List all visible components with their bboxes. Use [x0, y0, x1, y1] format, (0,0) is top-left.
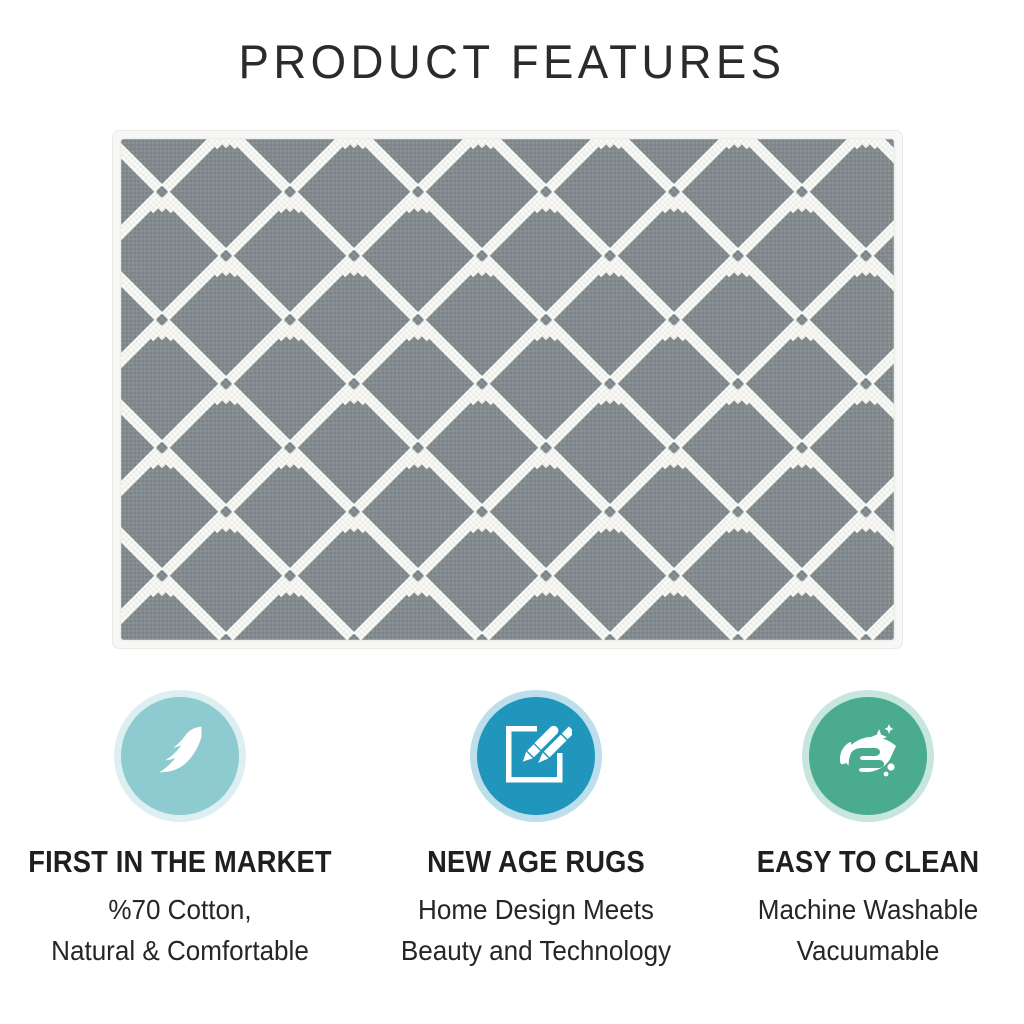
- feature-first-in-the-market[interactable]: FIRST IN THE MARKET %70 Cotton, Natural …: [0, 690, 360, 1024]
- feature-new-age-rugs[interactable]: NEW AGE RUGS Home Design Meets Beauty an…: [360, 690, 712, 1024]
- hand-cleaning-icon: [829, 717, 907, 795]
- product-image-rug: [112, 130, 903, 649]
- feature-description: %70 Cotton, Natural & Comfortable: [13, 889, 348, 972]
- feature-icon-holder: [114, 690, 246, 822]
- rug-illustration: [112, 130, 903, 649]
- feature-line: Natural & Comfortable: [13, 930, 348, 971]
- feature-title: EASY TO CLEAN: [731, 846, 1006, 879]
- feature-title: NEW AGE RUGS: [381, 846, 691, 879]
- feature-line: Beauty and Technology: [372, 930, 699, 971]
- feature-description: Home Design Meets Beauty and Technology: [372, 889, 699, 972]
- feature-title: FIRST IN THE MARKET: [22, 846, 339, 879]
- feature-line: Vacuumable: [723, 930, 1013, 971]
- feature-line: %70 Cotton,: [13, 889, 348, 930]
- features-row: FIRST IN THE MARKET %70 Cotton, Natural …: [0, 690, 1024, 1024]
- feature-icon-holder: [470, 690, 602, 822]
- feature-easy-to-clean[interactable]: EASY TO CLEAN Machine Washable Vacuumabl…: [712, 690, 1024, 1024]
- icon-circle: [477, 697, 595, 815]
- pen-design-icon: [500, 720, 572, 792]
- rug-body: [112, 130, 903, 649]
- icon-circle: [809, 697, 927, 815]
- icon-circle: [121, 697, 239, 815]
- feature-line: Machine Washable: [723, 889, 1013, 930]
- page-title: PRODUCT FEATURES: [15, 34, 1008, 89]
- feature-description: Machine Washable Vacuumable: [723, 889, 1013, 972]
- feather-icon: [143, 719, 217, 793]
- feature-line: Home Design Meets: [372, 889, 699, 930]
- feature-icon-holder: [802, 690, 934, 822]
